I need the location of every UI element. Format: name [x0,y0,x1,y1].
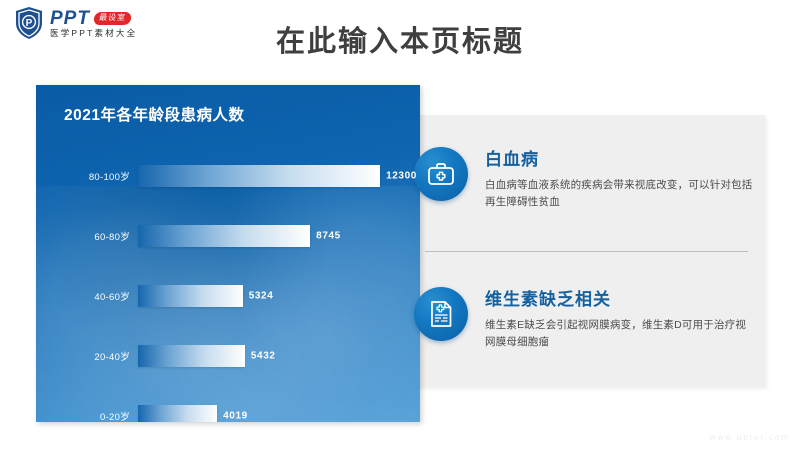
bar-track: 5324 [138,285,410,307]
bar-value-label: 5432 [251,351,276,362]
bar-row: 20-40岁 5432 [54,345,410,367]
bar-fill [138,345,245,367]
medical-kit-icon [414,147,468,201]
bar-chart: 80-100岁 12300 60-80岁 8745 40-60岁 5324 20… [36,147,420,412]
bar-row: 60-80岁 8745 [54,225,410,247]
chart-title: 2021年各年龄段患病人数 [64,103,244,125]
medical-report-icon [414,287,468,341]
bar-track: 12300 [138,165,410,187]
bar-category-label: 40-60岁 [54,289,138,303]
info-text-block: 维生素缺乏相关 维生素E缺乏会引起视网膜病变，维生素D可用于治疗视网膜母细胞瘤 [485,283,754,352]
bar-row: 80-100岁 12300 [54,165,410,187]
bar-row: 40-60岁 5324 [54,285,410,307]
bar-value-label: 12300 [386,171,417,182]
bar-value-label: 5324 [249,291,274,302]
chart-panel: 2021年各年龄段患病人数 80-100岁 12300 60-80岁 8745 … [36,85,420,422]
info-text-block: 白血病 白血病等血液系统的疾病会带来视底改变，可以针对包括再生障碍性贫血 [485,143,754,212]
info-description: 白血病等血液系统的疾病会带来视底改变，可以针对包括再生障碍性贫血 [485,177,754,212]
bar-category-label: 20-40岁 [54,349,138,363]
bar-fill [138,165,380,187]
bar-fill [138,225,310,247]
info-description: 维生素E缺乏会引起视网膜病变，维生素D可用于治疗视网膜母细胞瘤 [485,317,754,352]
info-item-vitamin-deficiency[interactable]: 维生素缺乏相关 维生素E缺乏会引起视网膜病变，维生素D可用于治疗视网膜母细胞瘤 [414,283,754,352]
watermark: www.ppter.com [710,433,790,442]
bar-track: 4019 [138,405,410,422]
info-heading: 维生素缺乏相关 [485,285,754,310]
bar-row: 0-20岁 4019 [54,405,410,422]
page-title: 在此输入本页标题 [0,18,800,60]
bar-category-label: 0-20岁 [54,409,138,422]
bar-value-label: 8745 [316,231,341,242]
bar-category-label: 60-80岁 [54,229,138,243]
bar-category-label: 80-100岁 [54,169,138,183]
bar-fill [138,405,217,422]
info-divider [425,251,748,252]
info-heading: 白血病 [485,145,754,170]
bar-track: 8745 [138,225,410,247]
bar-fill [138,285,243,307]
bar-value-label: 4019 [223,411,248,422]
bar-track: 5432 [138,345,410,367]
info-item-leukemia[interactable]: 白血病 白血病等血液系统的疾病会带来视底改变，可以针对包括再生障碍性贫血 [414,143,754,212]
